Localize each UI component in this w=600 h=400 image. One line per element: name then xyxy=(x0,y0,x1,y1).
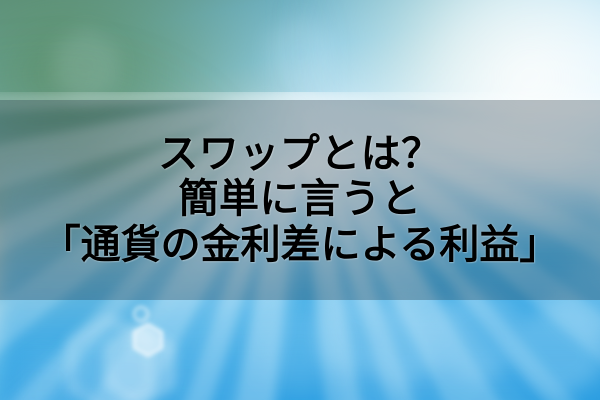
headline-line-3: 「通貨の金利差による利益」 xyxy=(41,223,560,269)
headline-line-2: 簡単に言うと xyxy=(179,177,422,223)
eyecatch-canvas: スワップとは？ 簡単に言うと 「通貨の金利差による利益」 xyxy=(0,0,600,400)
headline-text-block: スワップとは？ 簡単に言うと 「通貨の金利差による利益」 xyxy=(0,100,600,300)
headline-line-1: スワップとは？ xyxy=(158,132,442,178)
